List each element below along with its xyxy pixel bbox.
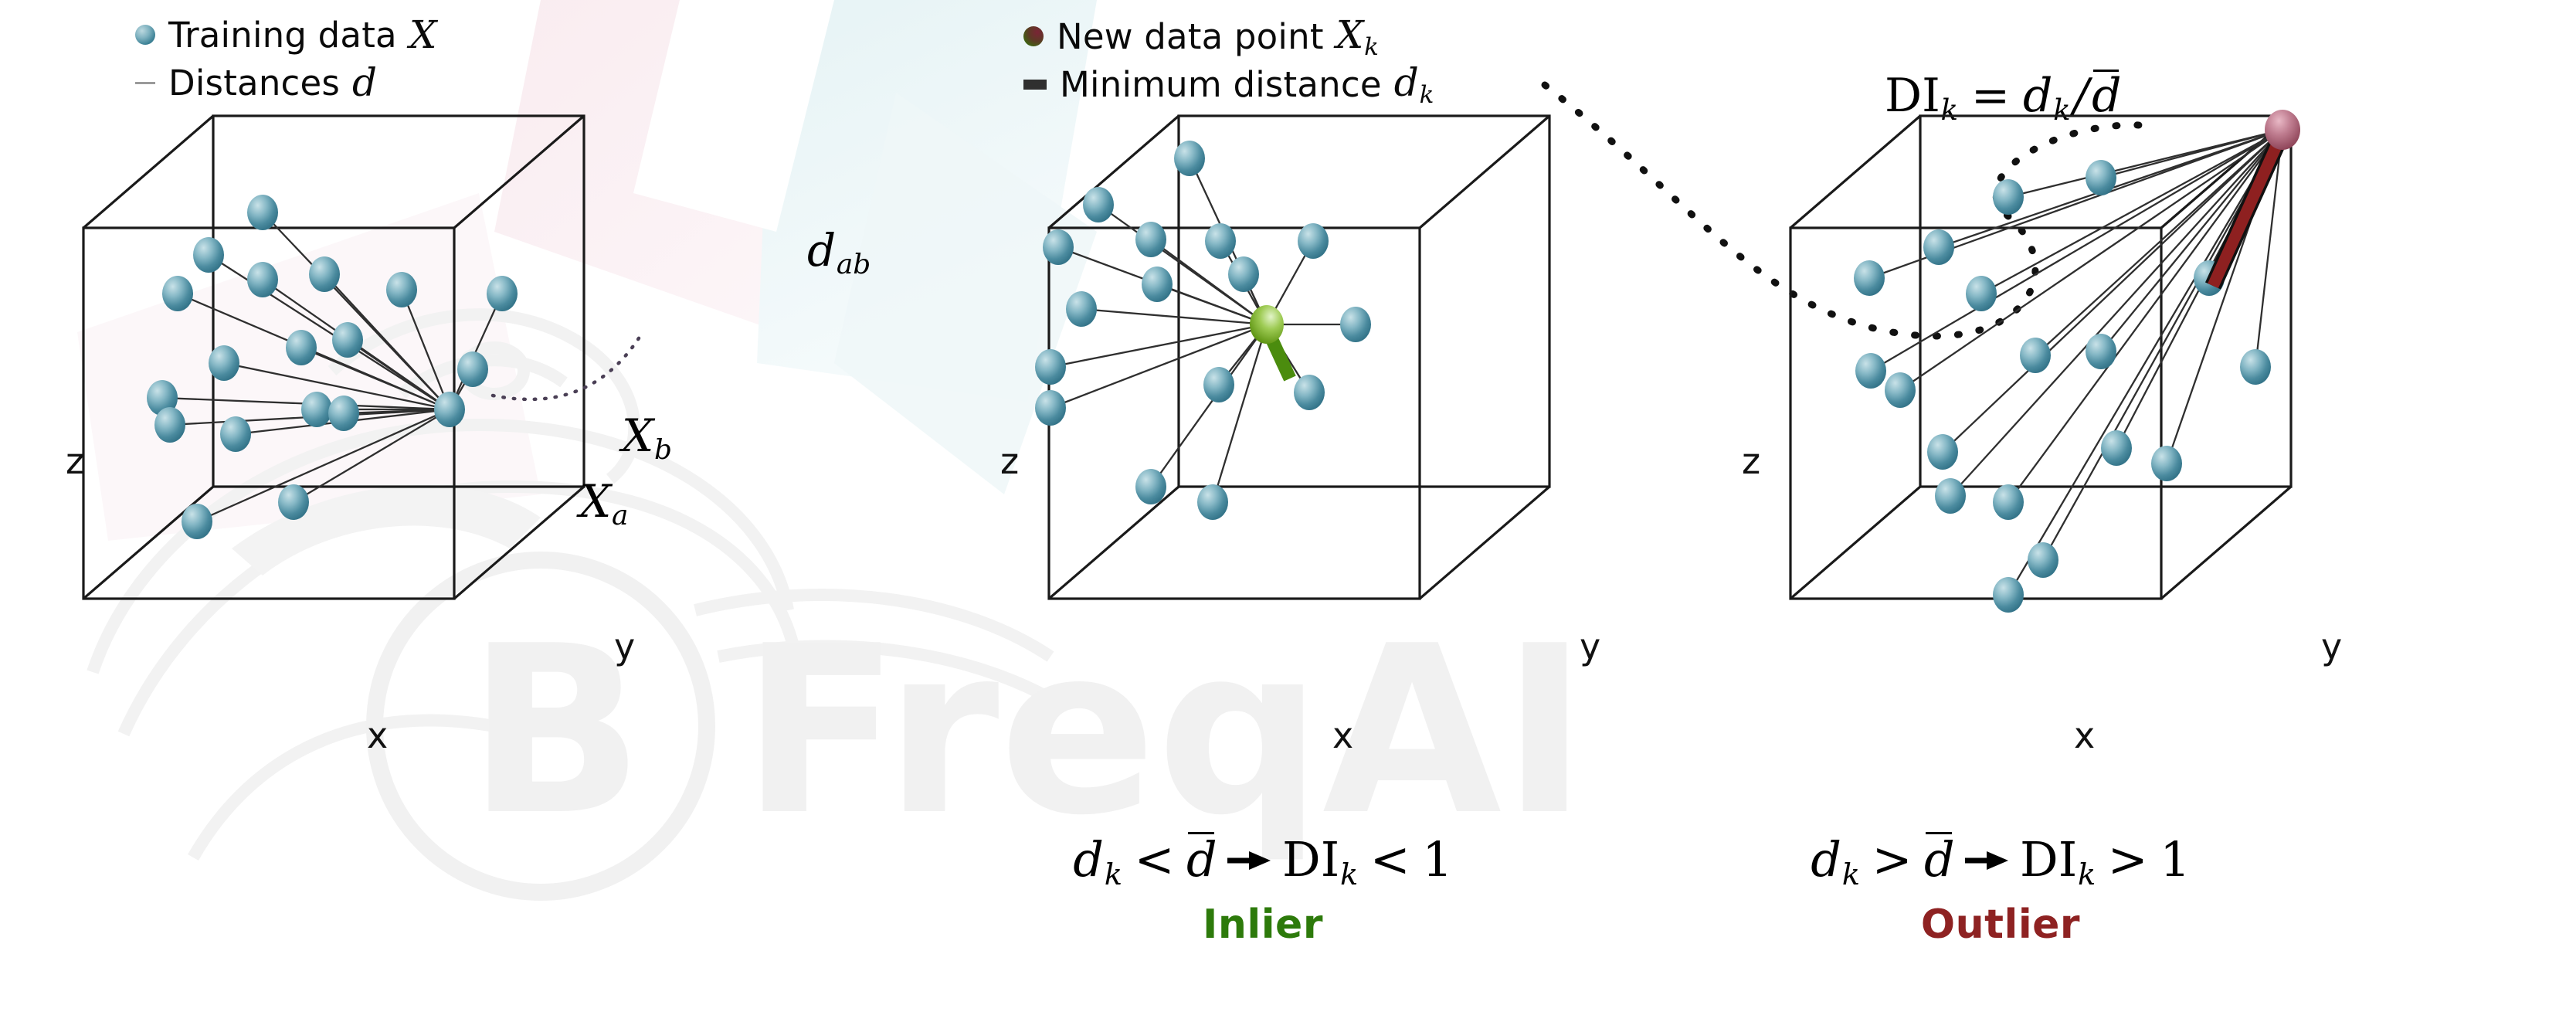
cube-2-training-points xyxy=(1035,141,1371,520)
legend-distances-symbol: d xyxy=(352,60,377,105)
caption-outlier-equation: dk>dDIk>1 xyxy=(1699,830,2302,892)
point-xa-label: Xa xyxy=(579,475,628,531)
panel-outlier: z x y xyxy=(1777,100,2518,780)
panel-3-axis-x: x xyxy=(2074,715,2095,756)
dab-leader-line xyxy=(493,332,643,399)
cube-2-graphic xyxy=(1035,100,1777,780)
cube-3-distance-lines xyxy=(1869,130,2282,595)
cube-1-wireframe xyxy=(83,116,584,599)
legend-training-data-symbol: X xyxy=(409,12,437,57)
legend-training-data: Training data X xyxy=(135,12,437,57)
panel-2-axis-y: y xyxy=(1580,626,1600,667)
panel-2-axis-x: x xyxy=(1332,715,1353,756)
legend-new-data-point: New data point Xk xyxy=(1023,12,1379,61)
caption-outlier: dk>dDIk>1 Outlier xyxy=(1699,830,2302,948)
panel-2-axis-z: z xyxy=(1000,440,1019,482)
distance-ab-label: dab xyxy=(807,224,871,280)
diagram-canvas: B FreqAI Training data X Distances d New… xyxy=(0,0,2576,1022)
point-xb-label: Xb xyxy=(622,409,672,466)
panel-3-axis-z: z xyxy=(1742,440,1760,482)
arrow-right-icon xyxy=(1963,849,2011,872)
point-xa xyxy=(434,392,465,427)
new-point-sphere-icon xyxy=(1023,26,1044,46)
panel-3-axis-y: y xyxy=(2321,626,2342,667)
legend-distances: Distances d xyxy=(135,60,377,105)
legend-new-data-point-label: New data point xyxy=(1057,16,1324,57)
verdict-inlier: Inlier xyxy=(962,901,1564,948)
teal-sphere-icon xyxy=(135,25,155,45)
legend-training-data-label: Training data xyxy=(168,15,397,56)
caption-inlier-equation: dk<dDIk<1 xyxy=(962,830,1564,892)
panel-1-axis-x: x xyxy=(367,715,388,756)
legend-distances-label: Distances xyxy=(168,63,340,104)
verdict-outlier: Outlier xyxy=(1699,901,2302,948)
point-xb xyxy=(457,351,488,387)
caption-inlier: dk<dDIk<1 Inlier xyxy=(962,830,1564,948)
legend-minimum-distance-label: Minimum distance xyxy=(1060,64,1382,105)
panel-1-axis-z: z xyxy=(66,440,84,482)
cube-2-wireframe xyxy=(1049,116,1549,599)
thin-dash-icon xyxy=(135,82,155,84)
panel-1-axis-y: y xyxy=(614,626,635,667)
new-data-point-outlier xyxy=(2265,110,2300,150)
arrow-right-icon xyxy=(1226,849,1274,872)
cube-1-graphic xyxy=(70,100,842,780)
thick-dash-icon xyxy=(1023,80,1047,90)
panel-inlier: z x y xyxy=(1035,100,1777,780)
new-data-point-inlier xyxy=(1250,305,1284,344)
cube-3-graphic xyxy=(1777,100,2518,780)
panel-training-distances: z x y dab Xb Xa xyxy=(70,100,842,780)
legend-new-data-point-symbol: Xk xyxy=(1336,12,1379,61)
